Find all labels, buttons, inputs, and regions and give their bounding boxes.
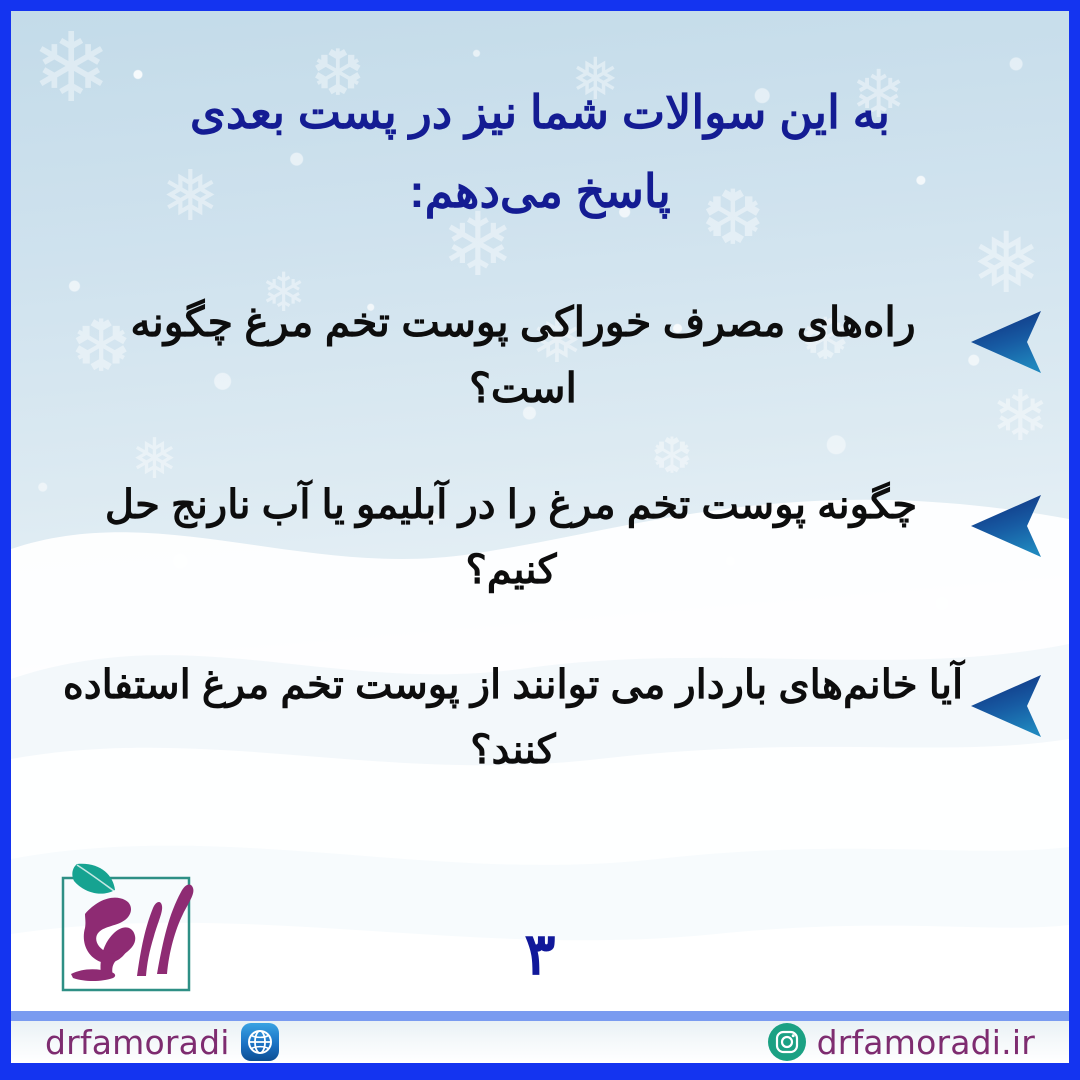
headline-line-1: به این سوالات شما نیز در پست بعدی — [190, 86, 890, 138]
headline-line-2: پاسخ می‌دهم: — [37, 152, 1043, 231]
footer-bottom-rule — [11, 1063, 1069, 1069]
headline: به این سوالات شما نیز در پست بعدی پاسخ م… — [37, 73, 1043, 231]
arrow-left-icon — [969, 493, 1051, 559]
question-line-1: چگونه پوست تخم مرغ را در آبلیمو یا آب نا… — [171, 483, 917, 527]
website-handle[interactable]: drfamoradi — [45, 1022, 280, 1062]
question-item: راه‌های مصرف خوراکی پوست تخم مرغ چگونه ا… — [45, 289, 1043, 439]
footer-stripe — [11, 1011, 1069, 1021]
arrow-left-icon — [969, 673, 1051, 739]
footer-bar: drfamoradi — [11, 1011, 1069, 1069]
question-text: چگونه پوست تخم مرغ را در آبلیمو یا آب نا… — [45, 473, 1043, 603]
website-label: drfamoradi — [45, 1023, 230, 1062]
brand-logo — [41, 856, 221, 1001]
question-text: آیا خانم‌های باردار می توانند از پوست تخ… — [45, 653, 1043, 783]
arrow-left-icon — [969, 309, 1051, 375]
question-item: آیا خانم‌های باردار می توانند از پوست تخ… — [45, 653, 1043, 803]
footer-content: drfamoradi — [11, 1021, 1069, 1063]
question-line-1: آیا خانم‌های باردار می توانند از پوست تخ… — [202, 663, 963, 707]
question-item: چگونه پوست تخم مرغ را در آبلیمو یا آب نا… — [45, 473, 1043, 623]
poster-canvas: ❄ ❅ ❆ ❄ ❅ ❆ ❄ ❅ ❆ ❄ ❅ ❆ ❄ ❅ ❆ به این سوا… — [0, 0, 1080, 1080]
instagram-label: drfamoradi.ir — [817, 1023, 1035, 1062]
question-line-1: راه‌های مصرف خوراکی پوست تخم مرغ — [244, 299, 915, 345]
instagram-handle[interactable]: drfamoradi.ir — [767, 1022, 1035, 1062]
question-list: راه‌های مصرف خوراکی پوست تخم مرغ چگونه ا… — [45, 289, 1043, 825]
question-text: راه‌های مصرف خوراکی پوست تخم مرغ چگونه ا… — [45, 289, 1043, 422]
instagram-icon[interactable] — [767, 1022, 807, 1062]
globe-icon[interactable] — [240, 1022, 280, 1062]
